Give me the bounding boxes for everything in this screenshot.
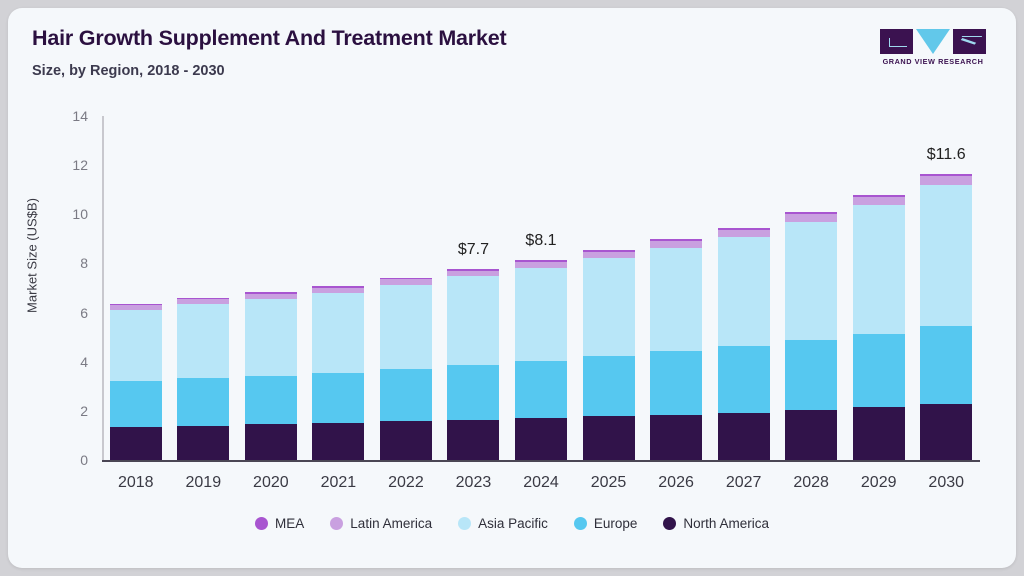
y-axis-tick-8: 8 <box>52 255 88 271</box>
x-axis-line <box>102 460 980 462</box>
y-axis-tick-4: 4 <box>52 354 88 370</box>
bar-segment-asia-pacific[interactable] <box>110 310 162 381</box>
bar-segment-north-america[interactable] <box>110 427 162 460</box>
bar-2022[interactable] <box>380 278 432 460</box>
bar-segment-latin-america[interactable] <box>853 197 905 205</box>
bar-segment-europe[interactable] <box>718 346 770 412</box>
bar-2025[interactable] <box>583 250 635 460</box>
bar-segment-europe[interactable] <box>245 376 297 424</box>
legend-item-latin-america[interactable]: Latin America <box>330 516 432 531</box>
bar-segment-europe[interactable] <box>447 365 499 420</box>
y-axis-tick-0: 0 <box>52 452 88 468</box>
bar-2024[interactable] <box>515 260 567 460</box>
bar-segment-europe[interactable] <box>650 351 702 414</box>
legend-label-asia-pacific: Asia Pacific <box>478 516 548 531</box>
bar-segment-asia-pacific[interactable] <box>583 258 635 356</box>
bar-segment-asia-pacific[interactable] <box>785 222 837 340</box>
bar-segment-europe[interactable] <box>110 381 162 426</box>
bar-segment-latin-america[interactable] <box>718 230 770 237</box>
bar-segment-north-america[interactable] <box>650 415 702 460</box>
bar-segment-europe[interactable] <box>853 334 905 407</box>
bar-segment-north-america[interactable] <box>447 420 499 460</box>
legend-label-latin-america: Latin America <box>350 516 432 531</box>
bar-2018[interactable] <box>110 304 162 460</box>
bar-2029[interactable] <box>853 195 905 460</box>
legend-label-europe: Europe <box>594 516 638 531</box>
bar-segment-north-america[interactable] <box>177 426 229 460</box>
bar-2028[interactable] <box>785 212 837 460</box>
legend-item-asia-pacific[interactable]: Asia Pacific <box>458 516 548 531</box>
bar-segment-asia-pacific[interactable] <box>177 304 229 378</box>
bar-segment-europe[interactable] <box>177 378 229 425</box>
legend-swatch-mea <box>255 517 268 530</box>
bar-2020[interactable] <box>245 292 297 460</box>
bar-2023[interactable] <box>447 269 499 460</box>
legend-item-north-america[interactable]: North America <box>663 516 769 531</box>
legend-swatch-latin-america <box>330 517 343 530</box>
chart-legend: MEALatin AmericaAsia PacificEuropeNorth … <box>8 516 1016 531</box>
y-axis-tick-12: 12 <box>52 157 88 173</box>
bar-2026[interactable] <box>650 239 702 460</box>
bar-2030[interactable] <box>920 174 972 460</box>
legend-label-north-america: North America <box>683 516 769 531</box>
bar-segment-north-america[interactable] <box>312 423 364 460</box>
bar-segment-europe[interactable] <box>583 356 635 416</box>
y-axis-label: Market Size (US$B) <box>25 166 40 346</box>
data-label-2030: $11.6 <box>886 146 1006 164</box>
bar-segment-europe[interactable] <box>785 340 837 410</box>
bar-segment-asia-pacific[interactable] <box>380 285 432 369</box>
bar-segment-europe[interactable] <box>312 373 364 423</box>
bar-segment-north-america[interactable] <box>920 404 972 461</box>
bar-segment-europe[interactable] <box>515 361 567 418</box>
legend-label-mea: MEA <box>275 516 304 531</box>
bar-segment-north-america[interactable] <box>245 424 297 460</box>
bar-segment-north-america[interactable] <box>515 418 567 460</box>
bar-segment-asia-pacific[interactable] <box>245 299 297 376</box>
y-axis-tick-6: 6 <box>52 305 88 321</box>
chart-card: Hair Growth Supplement And Treatment Mar… <box>8 8 1016 568</box>
bar-segment-asia-pacific[interactable] <box>920 185 972 326</box>
legend-item-europe[interactable]: Europe <box>574 516 638 531</box>
bar-segment-latin-america[interactable] <box>920 176 972 185</box>
bar-segment-latin-america[interactable] <box>650 241 702 248</box>
bar-segment-europe[interactable] <box>380 369 432 421</box>
data-label-2024: $8.1 <box>481 232 601 250</box>
x-axis-tick-2030: 2030 <box>901 474 991 492</box>
bar-segment-europe[interactable] <box>920 326 972 403</box>
bar-2027[interactable] <box>718 228 770 460</box>
y-axis-line <box>102 116 104 460</box>
bar-segment-asia-pacific[interactable] <box>853 205 905 334</box>
legend-swatch-europe <box>574 517 587 530</box>
bar-segment-north-america[interactable] <box>583 416 635 460</box>
bar-segment-asia-pacific[interactable] <box>718 237 770 346</box>
bar-segment-north-america[interactable] <box>853 407 905 460</box>
legend-item-mea[interactable]: MEA <box>255 516 304 531</box>
bar-segment-north-america[interactable] <box>785 410 837 460</box>
y-axis-tick-10: 10 <box>52 206 88 222</box>
bar-segment-asia-pacific[interactable] <box>312 293 364 373</box>
bar-segment-asia-pacific[interactable] <box>650 248 702 351</box>
legend-swatch-asia-pacific <box>458 517 471 530</box>
y-axis-tick-14: 14 <box>52 108 88 124</box>
bar-2019[interactable] <box>177 298 229 460</box>
legend-swatch-north-america <box>663 517 676 530</box>
bar-segment-north-america[interactable] <box>380 421 432 460</box>
bar-2021[interactable] <box>312 286 364 460</box>
chart-plot-area: Market Size (US$B) 02468101214 201820192… <box>8 8 1016 568</box>
bar-segment-latin-america[interactable] <box>785 214 837 222</box>
bar-segment-asia-pacific[interactable] <box>447 276 499 364</box>
y-axis-tick-2: 2 <box>52 403 88 419</box>
bar-segment-asia-pacific[interactable] <box>515 268 567 361</box>
bar-segment-north-america[interactable] <box>718 413 770 460</box>
